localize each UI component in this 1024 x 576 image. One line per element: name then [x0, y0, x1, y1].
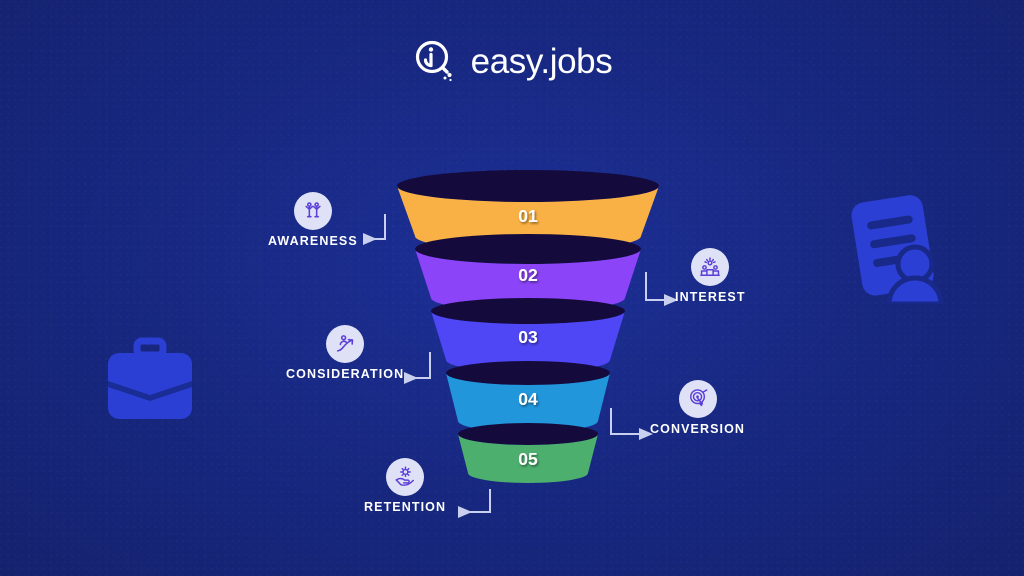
funnel-stage-05[interactable]: 05 [458, 423, 598, 483]
funnel-label-interest-text: INTEREST [675, 290, 746, 304]
funnel-stage-02-rim [415, 234, 641, 264]
funnel-stage-01-rim [397, 170, 659, 202]
funnel-stage-04-number: 04 [518, 389, 538, 409]
funnel-stage-03-number: 03 [518, 327, 538, 347]
funnel-label-retention[interactable]: RETENTION [364, 458, 446, 514]
funnel-stage-04-rim [446, 361, 610, 385]
funnel-stage-03[interactable]: 03 [431, 298, 625, 372]
funnel-stage-03-rim [431, 298, 625, 324]
funnel-chart: 01 02 03 04 05 [0, 0, 1024, 576]
two-people-raised-arms-icon [294, 192, 332, 230]
funnel-stage-05-rim [458, 423, 598, 445]
person-growth-arrow-icon [326, 325, 364, 363]
funnel-stage-05-number: 05 [518, 449, 538, 469]
funnel-label-awareness-text: AWARENESS [268, 234, 358, 248]
funnel-label-conversion[interactable]: CONVERSION [650, 380, 745, 436]
funnel-label-retention-text: RETENTION [364, 500, 446, 514]
funnel-label-consideration-text: CONSIDERATION [286, 367, 404, 381]
audience-group-star-icon [691, 248, 729, 286]
funnel-stage-04[interactable]: 04 [446, 361, 610, 432]
infographic-canvas: easy.jobs 01 02 03 [0, 0, 1024, 576]
funnel-stage-01-number: 01 [518, 206, 538, 226]
funnel-label-awareness[interactable]: AWARENESS [268, 192, 358, 248]
funnel-label-interest[interactable]: INTEREST [675, 248, 746, 304]
target-bullseye-arrow-icon [679, 380, 717, 418]
funnel-label-consideration[interactable]: CONSIDERATION [286, 325, 404, 381]
funnel-stage-02-number: 02 [518, 265, 538, 285]
funnel-label-conversion-text: CONVERSION [650, 422, 745, 436]
hand-holding-sun-icon [386, 458, 424, 496]
